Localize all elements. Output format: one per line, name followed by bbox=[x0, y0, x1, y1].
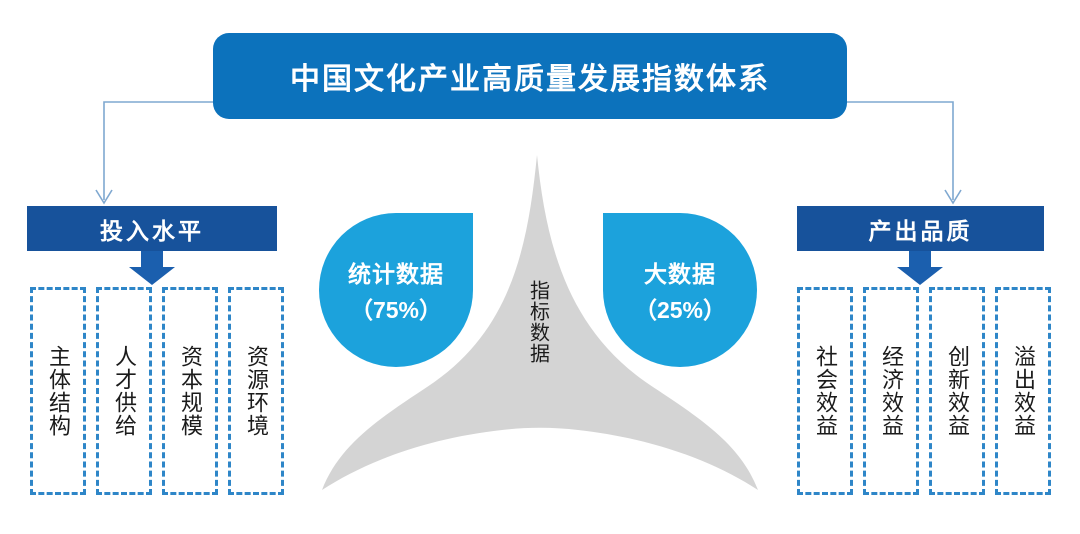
down-arrow-output-icon bbox=[897, 251, 943, 285]
sub-item-label-input-3: 资本规模 bbox=[177, 345, 203, 437]
branch-header-input-label: 投入水平 bbox=[100, 212, 204, 246]
sub-item-box-output-1: 社会效益 bbox=[797, 287, 853, 495]
sub-item-box-input-2: 人才供给 bbox=[96, 287, 152, 495]
sub-item-label-output-3: 创新效益 bbox=[944, 345, 970, 437]
sub-item-label-input-2: 人才供给 bbox=[111, 345, 137, 437]
branch-header-input: 投入水平 bbox=[27, 206, 277, 251]
center-caption-label: 指标数据 bbox=[523, 280, 552, 364]
connector-right-path bbox=[847, 102, 953, 200]
sub-item-box-output-3: 创新效益 bbox=[929, 287, 985, 495]
diagram-title-text: 中国文化产业高质量发展指数体系 bbox=[290, 54, 770, 98]
diagram-canvas: 中国文化产业高质量发展指数体系 统计数据 （75%） 大数据 （25%） 指标数… bbox=[0, 0, 1080, 534]
branch-header-output: 产出品质 bbox=[797, 206, 1044, 251]
branch-header-output-label: 产出品质 bbox=[869, 212, 973, 246]
connector-left-arrowhead bbox=[96, 190, 112, 203]
sub-item-box-output-2: 经济效益 bbox=[863, 287, 919, 495]
connector-right-arrowhead bbox=[945, 190, 961, 203]
data-bubble-bigdata: 大数据 （25%） bbox=[603, 213, 757, 367]
sub-item-label-output-1: 社会效益 bbox=[812, 345, 838, 437]
sub-item-label-output-2: 经济效益 bbox=[878, 345, 904, 437]
sub-item-box-input-4: 资源环境 bbox=[228, 287, 284, 495]
sub-item-label-input-1: 主体结构 bbox=[45, 345, 71, 437]
data-bubble-bigdata-percent: （25%） bbox=[634, 291, 726, 325]
data-bubble-bigdata-name: 大数据 bbox=[644, 255, 716, 289]
sub-item-label-output-4: 溢出效益 bbox=[1010, 345, 1036, 437]
center-caption: 指标数据 bbox=[511, 280, 563, 369]
data-bubble-statistics: 统计数据 （75%） bbox=[319, 213, 473, 367]
sub-item-box-output-4: 溢出效益 bbox=[995, 287, 1051, 495]
diagram-title-banner: 中国文化产业高质量发展指数体系 bbox=[213, 33, 847, 119]
sub-item-label-input-4: 资源环境 bbox=[243, 345, 269, 437]
down-arrow-input-icon bbox=[129, 251, 175, 285]
sub-item-box-input-3: 资本规模 bbox=[162, 287, 218, 495]
data-bubble-statistics-percent: （75%） bbox=[350, 291, 442, 325]
connector-left-path bbox=[104, 102, 213, 200]
sub-item-box-input-1: 主体结构 bbox=[30, 287, 86, 495]
data-bubble-statistics-name: 统计数据 bbox=[348, 255, 444, 289]
